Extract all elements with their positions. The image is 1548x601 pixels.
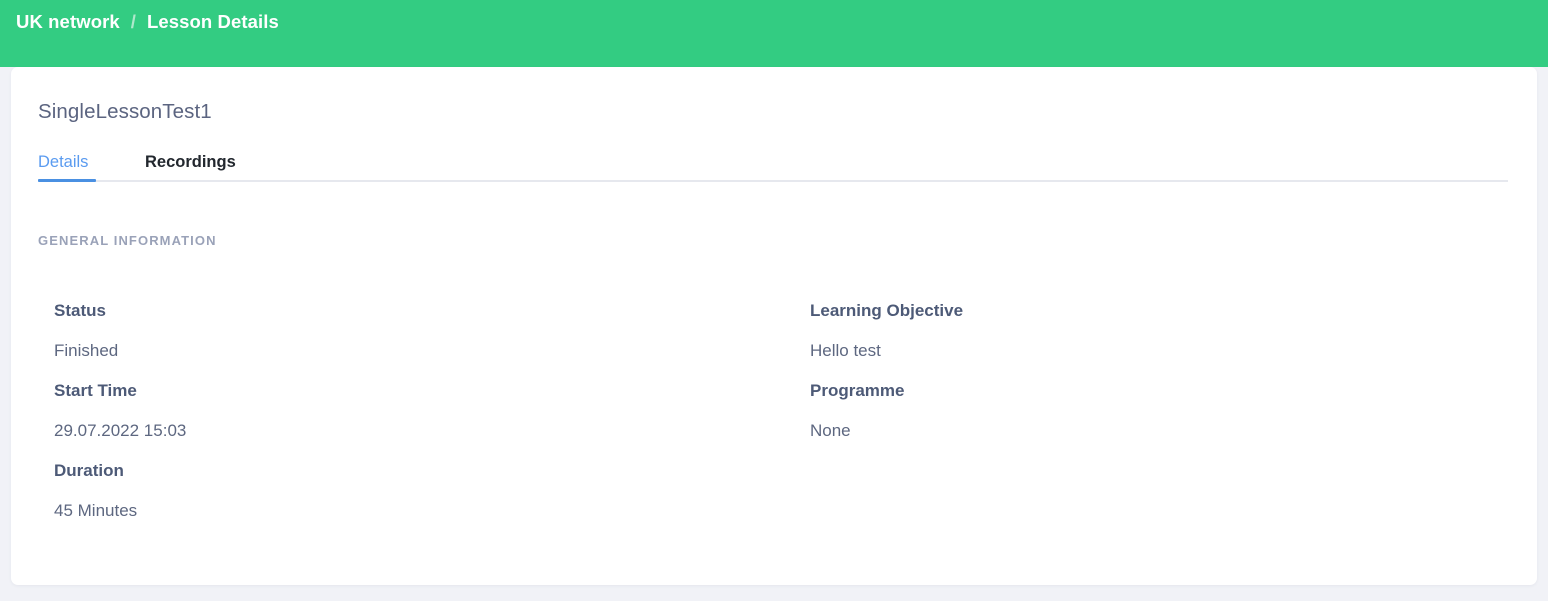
tab-details[interactable]: Details (38, 142, 96, 182)
tab-recordings[interactable]: Recordings (145, 142, 236, 182)
field-label-learning-objective: Learning Objective (810, 291, 1510, 331)
field-duration: Duration 45 Minutes (54, 451, 754, 531)
breadcrumb-item-root[interactable]: UK network (16, 9, 120, 35)
field-start-time: Start Time 29.07.2022 15:03 (54, 371, 754, 451)
lesson-details-card: SingleLessonTest1 Details Recordings GEN… (11, 67, 1537, 585)
field-programme: Programme None (810, 371, 1510, 451)
field-learning-objective: Learning Objective Hello test (810, 291, 1510, 371)
section-heading-general-information: GENERAL INFORMATION (38, 233, 217, 248)
page-title: SingleLessonTest1 (38, 100, 212, 124)
field-value-start-time: 29.07.2022 15:03 (54, 411, 754, 451)
field-label-status: Status (54, 291, 754, 331)
field-label-start-time: Start Time (54, 371, 754, 411)
info-column-left: Status Finished Start Time 29.07.2022 15… (54, 291, 754, 531)
tab-bar: Details Recordings (38, 142, 236, 182)
field-label-programme: Programme (810, 371, 1510, 411)
page-header-band: UK network / Lesson Details (0, 0, 1548, 67)
app-root: UK network / Lesson Details SingleLesson… (0, 0, 1548, 601)
tab-active-indicator (38, 179, 96, 182)
field-value-duration: 45 Minutes (54, 491, 754, 531)
breadcrumb-separator: / (131, 9, 136, 35)
breadcrumb: UK network / Lesson Details (16, 9, 279, 35)
field-value-learning-objective: Hello test (810, 331, 1510, 371)
info-column-right: Learning Objective Hello test Programme … (810, 291, 1510, 451)
field-value-programme: None (810, 411, 1510, 451)
field-status: Status Finished (54, 291, 754, 371)
field-value-status: Finished (54, 331, 754, 371)
tab-divider (38, 180, 1508, 182)
breadcrumb-item-current: Lesson Details (147, 9, 279, 35)
field-label-duration: Duration (54, 451, 754, 491)
